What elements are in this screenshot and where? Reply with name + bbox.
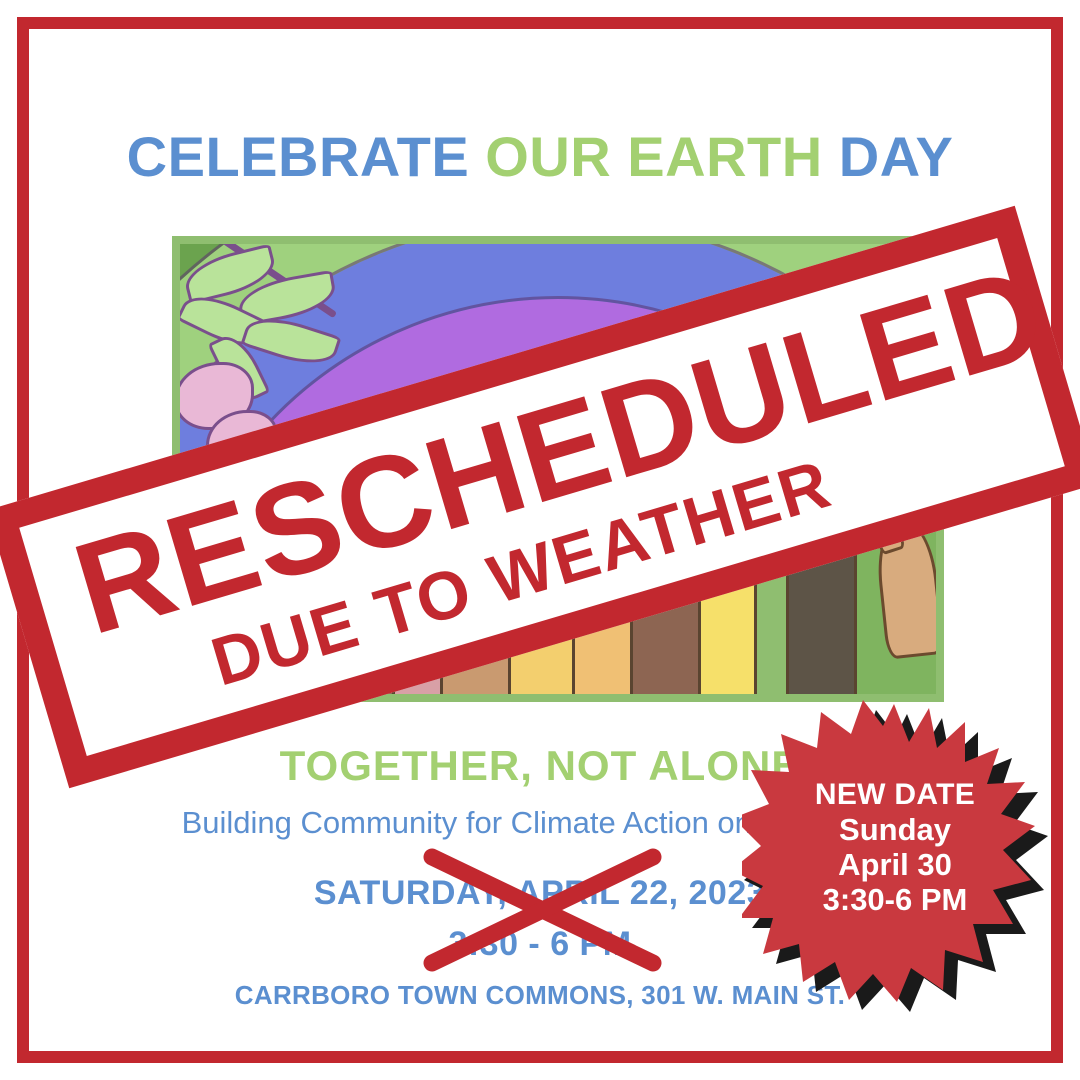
poster-canvas: CELEBRATE OUR EARTH DAY — [0, 0, 1080, 1080]
page-title: CELEBRATE OUR EARTH DAY — [0, 124, 1080, 189]
new-date-badge: NEW DATE Sunday April 30 3:30-6 PM — [742, 700, 1048, 1012]
headline-part-day: DAY — [839, 125, 954, 188]
starburst-icon — [742, 700, 1048, 1012]
headline-part-our-earth: OUR EARTH — [485, 125, 838, 188]
headline-part-celebrate: CELEBRATE — [127, 125, 486, 188]
